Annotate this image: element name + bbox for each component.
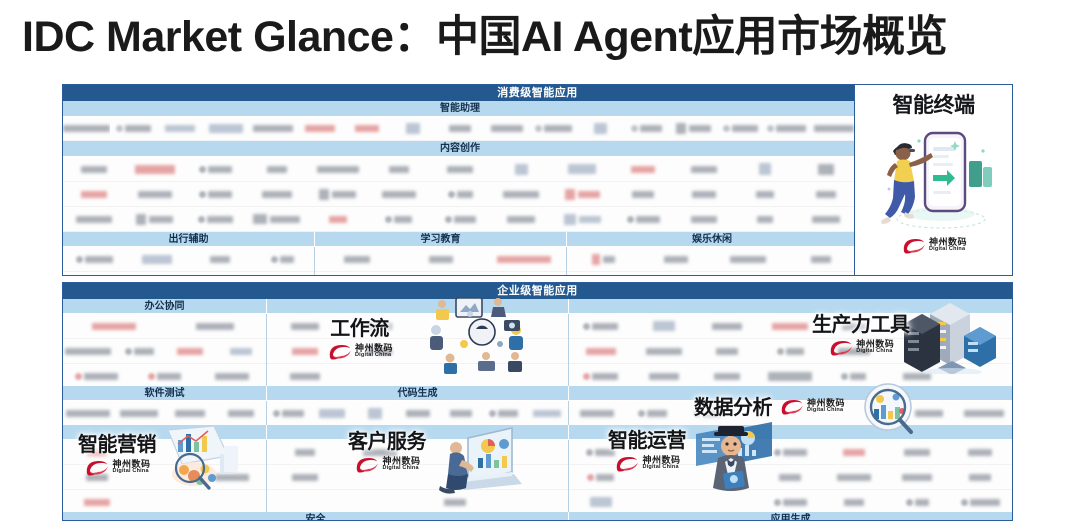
logo-tile	[156, 117, 203, 140]
subheader-travel-assist: 出行辅助	[63, 232, 315, 247]
consumer-section-panel: 消费级智能应用 智能助理	[62, 84, 1013, 276]
column-data-analysis	[569, 401, 1012, 425]
logo-tile	[342, 490, 417, 514]
logo-tile	[215, 401, 266, 425]
logo-tile	[493, 465, 568, 489]
logo-tile	[418, 490, 493, 514]
logo-tile	[165, 314, 267, 338]
logo-row	[63, 157, 857, 182]
logo-tile	[569, 339, 632, 363]
subheader-office-collaboration: 办公协同	[63, 299, 267, 314]
logo-row	[63, 117, 857, 141]
logo-tile	[189, 272, 252, 276]
enterprise-band2-grid	[63, 401, 1012, 425]
logo-tile	[368, 182, 429, 206]
logo-tile	[552, 207, 613, 231]
logo-tile	[124, 157, 185, 181]
logo-tile	[297, 117, 344, 140]
logo-tile	[696, 440, 759, 464]
logo-tile	[957, 401, 1012, 425]
logo-row	[567, 247, 857, 272]
logo-tile	[315, 247, 399, 271]
logo-tile	[246, 157, 307, 181]
logo-tile	[189, 247, 252, 271]
logo-tile	[491, 157, 552, 181]
logo-tile	[796, 157, 857, 181]
logo-tile	[569, 364, 632, 388]
logo-tile	[353, 401, 396, 425]
logo-tile	[482, 401, 525, 425]
logo-tile	[885, 440, 948, 464]
logo-tile	[632, 465, 695, 489]
logo-tile	[63, 117, 110, 140]
logo-tile	[735, 182, 796, 206]
digital-china-mark-icon	[900, 236, 926, 254]
logo-row	[315, 272, 566, 276]
logo-tile	[198, 465, 266, 489]
logo-tile	[949, 364, 1012, 388]
logo-row	[267, 465, 568, 490]
logo-tile	[198, 364, 266, 388]
logo-tile	[110, 117, 157, 140]
logo-row	[63, 207, 857, 232]
logo-tile	[63, 247, 126, 271]
logo-tile	[198, 440, 266, 464]
logo-row	[569, 401, 1012, 426]
smart-terminal-title: 智能终端	[893, 89, 975, 119]
logo-tile	[525, 401, 568, 425]
column-entertainment	[567, 247, 857, 276]
logo-tile	[63, 314, 165, 338]
consumer-content: 智能助理 内容创作	[63, 101, 857, 276]
logo-tile	[759, 440, 822, 464]
logo-tile	[310, 401, 353, 425]
logo-tile	[396, 401, 439, 425]
logo-tile	[791, 401, 846, 425]
logo-tile	[674, 182, 735, 206]
logo-row	[569, 314, 1012, 339]
logo-tile	[885, 364, 948, 388]
logo-tile	[429, 182, 490, 206]
column-customer-service	[267, 440, 569, 512]
consumer-bottom-subheaders: 出行辅助 学习教育 娱乐休闲	[63, 232, 857, 247]
logo-tile	[822, 465, 885, 489]
subheader-productivity-blank	[569, 299, 1012, 314]
logo-tile	[680, 401, 735, 425]
logo-tile	[640, 247, 713, 271]
market-glance-infographic: IDC Market Glance：中国AI Agent应用市场概览 消费级智能…	[0, 0, 1080, 525]
logo-tile	[764, 117, 811, 140]
logo-tile	[759, 314, 822, 338]
logo-tile	[185, 157, 246, 181]
logo-tile	[796, 207, 857, 231]
logo-tile	[785, 247, 858, 271]
logo-tile	[569, 490, 632, 514]
enterprise-section-header: 企业级智能应用	[63, 283, 1012, 299]
logo-tile	[246, 182, 307, 206]
person-with-smartphone-illustration	[859, 117, 1009, 235]
enterprise-band3-grid	[63, 440, 1012, 512]
logo-tile	[63, 401, 114, 425]
logo-tile	[949, 490, 1012, 514]
page-title: IDC Market Glance：中国AI Agent应用市场概览	[22, 16, 1062, 59]
logo-tile	[63, 490, 131, 514]
subheader-security: 安全	[63, 512, 569, 521]
subheader-smart-marketing-blank	[63, 425, 267, 440]
logo-tile	[418, 364, 493, 388]
logo-tile	[696, 364, 759, 388]
logo-tile	[63, 364, 131, 388]
subheader-software-testing: 软件测试	[63, 386, 267, 401]
logo-row	[63, 440, 266, 465]
subheader-learning-education: 学习教育	[315, 232, 567, 247]
logo-tile	[717, 117, 764, 140]
logo-tile	[640, 272, 713, 276]
digital-china-logo: 神州数码 Digital China	[900, 236, 967, 254]
logo-row	[63, 339, 266, 364]
logo-tile	[418, 465, 493, 489]
logo-tile	[885, 465, 948, 489]
logo-row	[63, 247, 314, 272]
logo-tile	[399, 272, 483, 276]
logo-tile	[759, 339, 822, 363]
logo-tile	[885, 339, 948, 363]
logo-tile	[670, 117, 717, 140]
logo-tile	[567, 272, 640, 276]
logo-tile	[307, 182, 368, 206]
logo-tile	[674, 157, 735, 181]
logo-tile	[63, 272, 126, 276]
logo-tile	[696, 465, 759, 489]
logo-tile	[63, 157, 124, 181]
logo-tile	[735, 401, 790, 425]
logo-tile	[483, 117, 530, 140]
logo-tile	[613, 182, 674, 206]
logo-tile	[901, 401, 956, 425]
subheader-smart-assistant: 智能助理	[63, 101, 857, 117]
logo-tile	[822, 339, 885, 363]
logo-tile	[759, 465, 822, 489]
column-workflow	[267, 314, 569, 386]
column-software-testing	[63, 401, 267, 425]
logo-tile	[418, 440, 493, 464]
logo-tile	[126, 247, 189, 271]
logo-tile	[885, 314, 948, 338]
logo-tile	[696, 490, 759, 514]
logo-tile	[493, 440, 568, 464]
logo-tile	[267, 314, 342, 338]
subheader-workflow-blank	[267, 299, 569, 314]
logo-row	[569, 440, 1012, 465]
logo-row	[63, 314, 266, 339]
logo-tile	[735, 157, 796, 181]
column-smart-operations	[569, 440, 1012, 512]
logo-tile	[613, 207, 674, 231]
logo-tile	[114, 401, 165, 425]
logo-tile	[307, 157, 368, 181]
logo-tile	[696, 339, 759, 363]
logo-tile	[399, 247, 483, 271]
logo-tile	[759, 490, 822, 514]
column-office-collaboration	[63, 314, 267, 386]
logo-tile	[696, 314, 759, 338]
logo-tile	[491, 182, 552, 206]
logo-tile	[342, 314, 417, 338]
logo-tile	[251, 272, 314, 276]
smart-terminal-feature: 智能终端	[854, 85, 1012, 275]
logo-tile	[482, 247, 566, 271]
logo-tile	[342, 465, 417, 489]
logo-tile	[674, 207, 735, 231]
logo-tile	[267, 401, 310, 425]
logo-tile	[165, 401, 216, 425]
logo-tile	[437, 117, 484, 140]
logo-tile	[712, 247, 785, 271]
logo-tile	[215, 339, 266, 363]
logo-tile	[63, 182, 124, 206]
logo-tile	[759, 364, 822, 388]
logo-tile	[632, 490, 695, 514]
logo-tile	[623, 117, 670, 140]
logo-tile	[131, 364, 199, 388]
enterprise-band4-subheaders: 安全 应用生成	[63, 512, 1012, 521]
logo-row	[63, 182, 857, 207]
logo-tile	[810, 117, 857, 140]
logo-row	[267, 339, 568, 364]
logo-tile	[439, 401, 482, 425]
logo-tile	[822, 314, 885, 338]
logo-tile	[185, 207, 246, 231]
logo-tile	[632, 314, 695, 338]
logo-tile	[63, 440, 131, 464]
logo-tile	[267, 490, 342, 514]
logo-tile	[131, 465, 199, 489]
logo-tile	[822, 490, 885, 514]
logo-row	[267, 440, 568, 465]
enterprise-section-panel: 企业级智能应用 办公协同	[62, 282, 1013, 521]
logo-tile	[251, 247, 314, 271]
logo-tile	[429, 207, 490, 231]
column-productivity-tools	[569, 314, 1012, 386]
logo-tile	[114, 339, 165, 363]
digital-china-wordmark: 神州数码 Digital China	[929, 238, 967, 253]
subheader-smart-operations-blank	[569, 425, 1012, 440]
logo-tile	[131, 440, 199, 464]
logo-row	[315, 247, 566, 272]
logo-tile	[822, 364, 885, 388]
logo-tile	[493, 339, 568, 363]
logo-tile	[846, 401, 901, 425]
logo-tile	[632, 364, 695, 388]
enterprise-band3-subheaders	[63, 425, 1012, 440]
logo-tile	[482, 272, 566, 276]
logo-tile	[368, 207, 429, 231]
logo-tile	[949, 465, 1012, 489]
logo-tile	[785, 272, 858, 276]
subheader-app-generation: 应用生成	[569, 512, 1012, 521]
logo-tile	[530, 117, 577, 140]
logo-tile	[165, 339, 216, 363]
logo-tile	[267, 339, 342, 363]
logo-tile	[124, 207, 185, 231]
logo-tile	[949, 440, 1012, 464]
logo-tile	[885, 490, 948, 514]
logo-tile	[63, 465, 131, 489]
logo-tile	[267, 465, 342, 489]
logo-tile	[735, 207, 796, 231]
logo-tile	[198, 490, 266, 514]
subheader-entertainment: 娱乐休闲	[567, 232, 857, 247]
logo-tile	[315, 272, 399, 276]
logo-tile	[949, 339, 1012, 363]
logo-tile	[569, 465, 632, 489]
enterprise-band2-subheaders: 软件测试 代码生成	[63, 386, 1012, 401]
logo-row	[569, 465, 1012, 490]
logo-tile	[822, 440, 885, 464]
logo-tile	[185, 182, 246, 206]
logo-tile	[342, 339, 417, 363]
logo-tile	[569, 440, 632, 464]
logo-row	[267, 314, 568, 339]
logo-tile	[949, 314, 1012, 338]
logo-tile	[343, 117, 390, 140]
logo-tile	[552, 157, 613, 181]
logo-tile	[63, 207, 124, 231]
subheader-code-generation: 代码生成	[267, 386, 569, 401]
column-code-generation	[267, 401, 569, 425]
logo-row	[267, 401, 568, 426]
logo-row	[567, 272, 857, 276]
logo-row	[63, 401, 266, 426]
logo-tile	[569, 314, 632, 338]
logo-tile	[246, 207, 307, 231]
subheader-data-analysis-blank	[569, 386, 1012, 401]
logo-tile	[569, 401, 624, 425]
enterprise-band1-grid	[63, 314, 1012, 386]
logo-tile	[418, 339, 493, 363]
logo-tile	[267, 364, 342, 388]
logo-tile	[577, 117, 624, 140]
logo-tile	[632, 440, 695, 464]
logo-tile	[342, 364, 417, 388]
logo-tile	[390, 117, 437, 140]
logo-tile	[126, 272, 189, 276]
column-smart-marketing	[63, 440, 267, 512]
logo-tile	[632, 339, 695, 363]
logo-tile	[124, 182, 185, 206]
column-learning-education	[315, 247, 567, 276]
logo-tile	[63, 339, 114, 363]
logo-tile	[203, 117, 250, 140]
logo-tile	[493, 364, 568, 388]
logo-tile	[267, 440, 342, 464]
logo-tile	[368, 157, 429, 181]
subheader-customer-service-blank	[267, 425, 569, 440]
column-travel-assist	[63, 247, 315, 276]
logo-tile	[418, 314, 493, 338]
logo-tile	[493, 490, 568, 514]
logo-tile	[552, 182, 613, 206]
logo-tile	[567, 247, 640, 271]
logo-tile	[491, 207, 552, 231]
logo-tile	[712, 272, 785, 276]
logo-tile	[624, 401, 679, 425]
logo-tile	[307, 207, 368, 231]
logo-tile	[250, 117, 297, 140]
consumer-bottom-grid	[63, 247, 857, 276]
logo-tile	[613, 157, 674, 181]
logo-tile	[796, 182, 857, 206]
logo-tile	[342, 440, 417, 464]
subheader-content-creation: 内容创作	[63, 141, 857, 157]
logo-tile	[429, 157, 490, 181]
logo-row	[63, 465, 266, 490]
logo-row	[569, 339, 1012, 364]
logo-tile	[493, 314, 568, 338]
logo-row	[63, 272, 314, 276]
logo-tile	[131, 490, 199, 514]
enterprise-band1-subheaders: 办公协同	[63, 299, 1012, 314]
